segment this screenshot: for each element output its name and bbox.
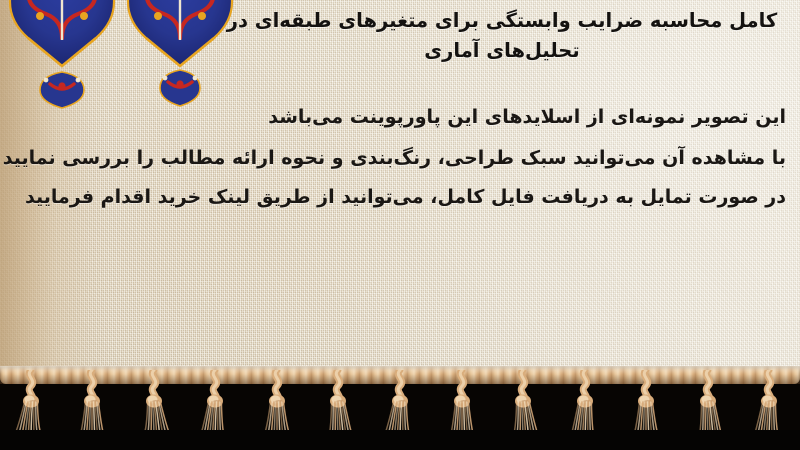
persian-medallion-pendant-icon (124, 0, 236, 114)
slide-body-line-1: این تصویر نمونه‌ای از اسلایدهای این پاور… (8, 108, 792, 127)
slide-canvas: کامل محاسبه ضرایب وابستگی برای متغیرهای … (0, 0, 800, 450)
fringe-shadow-floor (0, 430, 800, 450)
slide-body-line-3: در صورت تمایل به دریافت فایل کامل، می‌تو… (8, 188, 792, 207)
slide-body-line-2: با مشاهده آن می‌توانید سبک طراحی، رنگ‌بن… (8, 149, 792, 168)
slide-title-line-2: تحلیل‌های آماری (222, 36, 782, 66)
slide-title-line-1: کامل محاسبه ضرایب وابستگی برای متغیرهای … (222, 6, 782, 36)
slide-title: کامل محاسبه ضرایب وابستگی برای متغیرهای … (222, 6, 782, 65)
slide-body: این تصویر نمونه‌ای از اسلایدهای این پاور… (8, 108, 792, 207)
persian-medallion-pendant-icon (6, 0, 118, 114)
